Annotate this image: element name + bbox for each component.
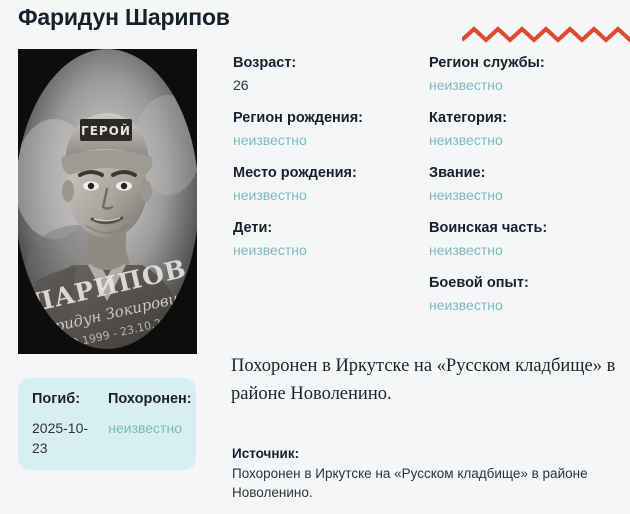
source-label: Источник: (232, 444, 626, 463)
died-value: 2025-10-23 (32, 418, 96, 458)
field-service-region: Регион службы: неизвестно (429, 54, 625, 95)
fields-column-left: Возраст: 26 Регион рождения: неизвестно … (233, 54, 429, 329)
field-combat-experience-label: Боевой опыт: (429, 274, 625, 293)
portrait-photo: ГЕРОЙ ШАРИПОВ Фаридун Зокирович 22.09.19… (18, 49, 197, 354)
died-column: Погиб: (32, 390, 96, 409)
field-service-region-value: неизвестно (429, 75, 625, 95)
field-children: Дети: неизвестно (233, 219, 429, 260)
field-birth-place: Место рождения: неизвестно (233, 164, 429, 205)
field-children-label: Дети: (233, 219, 429, 238)
page-title: Фаридун Шарипов (18, 4, 230, 31)
buried-value: неизвестно (108, 418, 182, 438)
svg-text:ГЕРОЙ: ГЕРОЙ (81, 123, 131, 138)
field-category-label: Категория: (429, 109, 625, 128)
buried-label: Похоронен: (108, 390, 182, 409)
field-category: Категория: неизвестно (429, 109, 625, 150)
source-block: Источник: Похоронен в Иркутске на «Русск… (232, 444, 626, 502)
died-label: Погиб: (32, 390, 96, 409)
field-birth-place-label: Место рождения: (233, 164, 429, 183)
buried-column: Похоронен: (108, 390, 182, 409)
field-military-unit-label: Воинская часть: (429, 219, 625, 238)
field-children-value: неизвестно (233, 240, 429, 260)
field-birth-place-value: неизвестно (233, 185, 429, 205)
field-rank: Звание: неизвестно (429, 164, 625, 205)
field-rank-value: неизвестно (429, 185, 625, 205)
burial-description: Похоронен в Иркутске на «Русском кладбищ… (231, 352, 627, 408)
field-age-value: 26 (233, 75, 429, 95)
field-combat-experience: Боевой опыт: неизвестно (429, 274, 625, 315)
field-birth-region-value: неизвестно (233, 130, 429, 150)
field-rank-label: Звание: (429, 164, 625, 183)
field-category-value: неизвестно (429, 130, 625, 150)
field-age: Возраст: 26 (233, 54, 429, 95)
profile-page: Фаридун Шарипов (0, 0, 630, 514)
fields-column-right: Регион службы: неизвестно Категория: неи… (429, 54, 625, 329)
field-service-region-label: Регион службы: (429, 54, 625, 73)
details-fields: Возраст: 26 Регион рождения: неизвестно … (233, 54, 625, 329)
zigzag-icon (462, 24, 630, 48)
field-military-unit-value: неизвестно (429, 240, 625, 260)
field-age-label: Возраст: (233, 54, 429, 73)
field-birth-region: Регион рождения: неизвестно (233, 109, 429, 150)
field-birth-region-label: Регион рождения: (233, 109, 429, 128)
field-combat-experience-value: неизвестно (429, 295, 625, 315)
source-text: Похоронен в Иркутске на «Русском кладбищ… (232, 464, 626, 502)
field-military-unit: Воинская часть: неизвестно (429, 219, 625, 260)
death-burial-card: Погиб: Похоронен: 2025-10-23 неизвестно (18, 378, 196, 470)
